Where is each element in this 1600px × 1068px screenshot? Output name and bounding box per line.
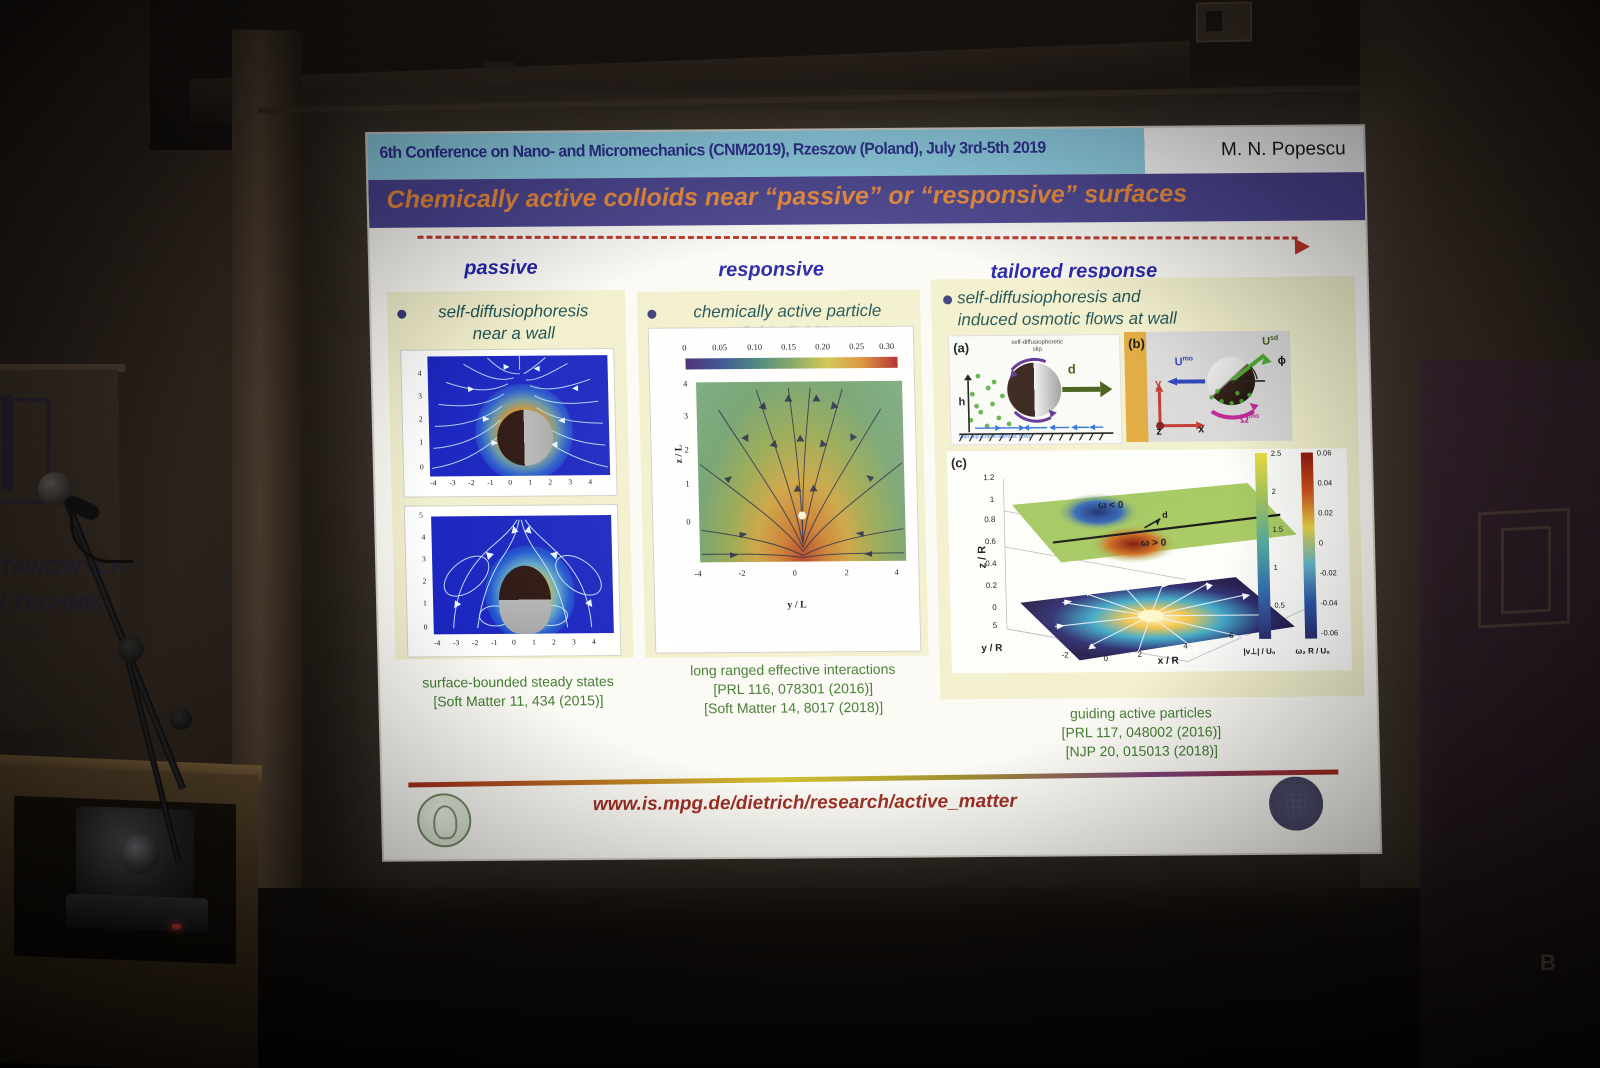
conference-room-photo: STAWOWYCH W TECHNIKI emii Nauk -pan.pl B… bbox=[0, 0, 1600, 1068]
projector-lens-icon bbox=[120, 834, 160, 874]
author-name: M. N. Popescu bbox=[1221, 138, 1346, 161]
citation-tailored-line-2: [PRL 117, 048002 (2016)] bbox=[981, 721, 1301, 742]
citation-passive-line-2: [Soft Matter 11, 434 (2015)] bbox=[398, 691, 638, 712]
figure-passive-lower: 5 4 3 2 1 0 -4 -3 -2 -1 0 1 2 3 4 bbox=[404, 504, 622, 658]
column-heading-responsive: responsive bbox=[718, 258, 824, 282]
z-tick-0: 0 bbox=[992, 603, 997, 612]
x-axis-label-c: x / R bbox=[1158, 656, 1179, 667]
citation-tailored-line-1: guiding active particles bbox=[981, 703, 1301, 724]
bullet-dot-tailored bbox=[943, 295, 952, 304]
plot-area-passive-lower bbox=[431, 515, 614, 634]
max-planck-logo-icon bbox=[417, 793, 472, 847]
axis-z-label-b: z bbox=[1156, 426, 1162, 438]
panel-c-3d-plot bbox=[947, 448, 1352, 673]
projection-surface: 6th Conference on Nano- and Micromechani… bbox=[367, 126, 1380, 860]
cb2-tick-0p02: 0.02 bbox=[1318, 508, 1333, 517]
z-tick-0p2: 0.2 bbox=[986, 581, 997, 590]
bullet-dot-responsive bbox=[647, 310, 656, 319]
cb2-tick-0: 0 bbox=[1319, 538, 1323, 547]
figure-responsive: 0 0.05 0.10 0.15 0.20 0.25 0.30 bbox=[648, 326, 922, 654]
x-tick-0: 0 bbox=[1104, 654, 1109, 663]
cb2-tick-0p06: 0.06 bbox=[1317, 448, 1332, 457]
plot-area-passive-upper bbox=[427, 355, 610, 476]
presentation-slide: 6th Conference on Nano- and Micromechani… bbox=[367, 126, 1380, 860]
wall-slip-annotation: wall slip (chemi-osmotic flow) bbox=[959, 434, 1030, 441]
z-tick-0p6: 0.6 bbox=[985, 537, 996, 546]
power-led-indicator bbox=[172, 924, 181, 929]
citation-responsive-line-1: long ranged effective interactions bbox=[648, 659, 938, 680]
right-banner-letter: B bbox=[1540, 950, 1556, 976]
x-tick-neg2: -2 bbox=[1061, 650, 1068, 659]
cb1-tick-2p5: 2.5 bbox=[1271, 449, 1282, 458]
omega-mo-label: Ωmo bbox=[1240, 413, 1260, 426]
x-tick-6: 6 bbox=[1229, 631, 1234, 640]
cb1-tick-0p5: 0.5 bbox=[1274, 601, 1285, 610]
axis-x-label-b: x bbox=[1198, 423, 1204, 435]
z-tick-1: 1 bbox=[990, 495, 995, 504]
phi-angle-label: ϕ bbox=[1278, 355, 1287, 367]
banner-url: -pan.pl bbox=[0, 686, 25, 702]
colorbar-vorticity-label: ω₂ R / U₀ bbox=[1295, 646, 1330, 655]
projection-screen: 6th Conference on Nano- and Micromechani… bbox=[365, 124, 1382, 862]
citation-tailored: guiding active particles [PRL 117, 04800… bbox=[981, 703, 1302, 762]
cb1-tick-1: 1 bbox=[1273, 563, 1277, 572]
y-axis-label-responsive: z / L bbox=[673, 445, 684, 464]
microphone-joint bbox=[118, 636, 144, 662]
u-sd-label: Usd bbox=[1262, 335, 1278, 348]
cb2-tick-neg0p02: -0.02 bbox=[1320, 568, 1337, 577]
x-axis-label-responsive: y / L bbox=[787, 599, 807, 610]
omega-negative-annotation: ω < 0 bbox=[1098, 500, 1124, 511]
cb2-tick-0p04: 0.04 bbox=[1317, 478, 1332, 487]
u-mo-label: Umo bbox=[1174, 355, 1193, 368]
citation-passive: surface-bounded steady states [Soft Matt… bbox=[398, 672, 639, 712]
bullet-dot-passive bbox=[397, 310, 406, 319]
janus-particle-vertical bbox=[497, 410, 554, 466]
bullet-text-passive: self-diffusiophoresis near a wall bbox=[413, 300, 614, 345]
subpanel-a: (a) self-diffusiophoretic slip bbox=[948, 334, 1123, 445]
panel-a-diagram bbox=[949, 335, 1122, 444]
y-axis-label-c: y / R bbox=[981, 643, 1002, 654]
arrow-right-icon bbox=[1295, 239, 1310, 255]
right-banner-logo-icon bbox=[1478, 508, 1570, 629]
footer-url[interactable]: www.is.mpg.de/dietrich/research/active_m… bbox=[593, 791, 1017, 816]
citation-tailored-line-3: [NJP 20, 015013 (2018)] bbox=[982, 740, 1302, 761]
x-tick-4: 4 bbox=[1183, 641, 1188, 650]
x-tick-2: 2 bbox=[1137, 650, 1142, 659]
footer-rule bbox=[408, 769, 1338, 787]
microphone-joint-lower bbox=[170, 708, 192, 730]
figure-passive-upper: 4 3 2 1 0 -4 -3 -2 -1 0 1 2 3 4 bbox=[400, 348, 618, 498]
subpanel-c: (c) bbox=[947, 448, 1352, 673]
banner-line-2: W TECHNIKI bbox=[0, 592, 111, 616]
citation-responsive-line-3: [Soft Matter 14, 8017 (2018)] bbox=[648, 697, 938, 718]
ceiling-lamp bbox=[484, 62, 514, 84]
right-banner bbox=[1420, 360, 1600, 1068]
janus-particle-horizontal bbox=[498, 566, 552, 634]
halftone-logo-icon bbox=[1268, 776, 1323, 830]
plot-area-responsive bbox=[696, 381, 906, 563]
colorbar-responsive bbox=[685, 357, 897, 370]
height-label: h bbox=[958, 396, 965, 408]
ceiling-vent bbox=[1196, 2, 1252, 43]
director-label-c: d bbox=[1162, 510, 1168, 520]
axis-y-label-b: y bbox=[1155, 378, 1161, 390]
banner-line-3: emii Nauk bbox=[0, 626, 49, 643]
omega-positive-annotation: ω > 0 bbox=[1141, 538, 1167, 549]
projector-base bbox=[66, 894, 208, 933]
citation-responsive: long ranged effective interactions [PRL … bbox=[648, 659, 939, 718]
z-tick-0p8: 0.8 bbox=[984, 515, 995, 524]
colorbar-velocity-label: |v⊥| / U₀ bbox=[1243, 647, 1275, 656]
dashed-divider bbox=[417, 236, 1297, 240]
cb1-tick-1p5: 1.5 bbox=[1273, 525, 1284, 534]
bullet-text-tailored: self-diffusiophoresis and induced osmoti… bbox=[957, 284, 1350, 331]
citation-passive-line-1: surface-bounded steady states bbox=[398, 672, 638, 693]
z-tick-1p2: 1.2 bbox=[983, 473, 994, 482]
citation-responsive-line-2: [PRL 116, 078301 (2016)] bbox=[648, 678, 938, 699]
quiver-streamlines bbox=[696, 381, 906, 563]
director-label-a: d bbox=[1068, 361, 1076, 376]
cb1-tick-2: 2 bbox=[1272, 487, 1276, 496]
y-tick-5: 5 bbox=[993, 621, 998, 630]
cb2-tick-neg0p06: -0.06 bbox=[1321, 628, 1338, 637]
cb2-tick-neg0p04: -0.04 bbox=[1320, 598, 1337, 607]
column-heading-passive: passive bbox=[464, 257, 538, 281]
z-tick-0p4: 0.4 bbox=[985, 559, 996, 568]
